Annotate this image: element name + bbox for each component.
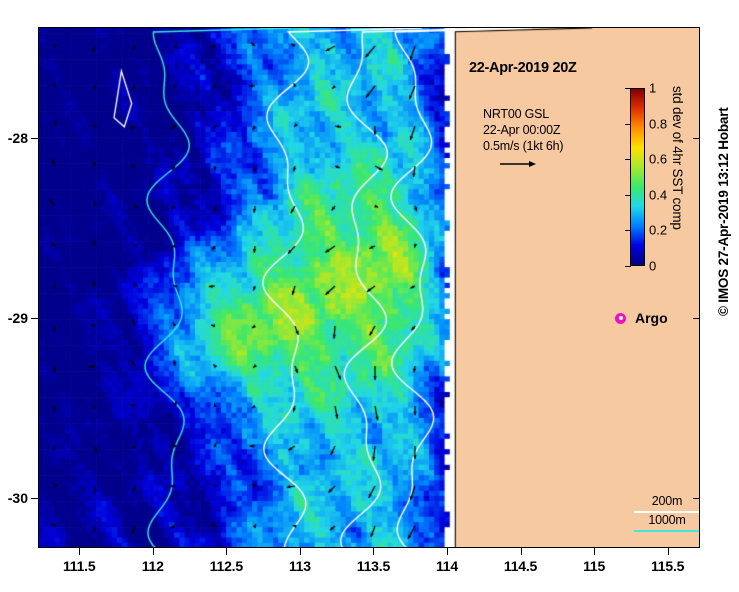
x-axis-tick-label: 114.5 [504,558,537,574]
map-plot-area[interactable]: 22-Apr-2019 20Z NRT00 GSL 22-Apr 00:00Z … [38,27,700,548]
argo-marker-icon [615,313,626,324]
colorbar-tick [625,159,631,160]
colorbar-tick-label: 0 [649,259,656,274]
timestamp-label: 22-Apr-2019 20Z [469,60,577,76]
current-source-label: NRT00 GSL [483,106,563,122]
x-axis-tick-label: 114 [436,558,458,574]
current-overlay-info: NRT00 GSL 22-Apr 00:00Z 0.5m/s (1kt 6h) [483,106,563,154]
depth-contour-legend: 200m 1000m [629,494,700,532]
y-axis-tick [31,498,38,499]
current-scale-label: 0.5m/s (1kt 6h) [483,138,563,154]
colorbar-tick-label: 0.6 [649,152,667,167]
x-axis-tick [594,548,595,555]
x-axis-tick [300,548,301,555]
x-axis-tick [373,548,374,555]
colorbar [630,88,645,266]
colorbar-tick [625,195,631,196]
y-axis-tick-label: -30 [0,490,28,506]
colorbar-tick [625,266,631,267]
colorbar-tick-label: 1 [649,81,656,96]
current-valid-time-label: 22-Apr 00:00Z [483,122,563,138]
y-axis-tick-label: -29 [0,310,28,326]
x-axis-tick-label: 113 [289,558,311,574]
y-axis-tick-right [693,498,700,499]
colorbar-tick [625,88,631,89]
x-axis-tick [668,548,669,555]
figure-root: 22-Apr-2019 20Z NRT00 GSL 22-Apr 00:00Z … [0,0,739,592]
argo-legend: Argo [615,310,668,326]
colorbar-title: std dev of 4hr SST comp [667,86,685,268]
x-axis-tick-label: 115 [583,558,605,574]
reference-velocity-arrow-icon [499,158,537,170]
x-axis-tick [447,548,448,555]
x-axis-tick-label: 112.5 [210,558,243,574]
depth-200-label: 200m [629,494,700,511]
x-axis-tick-label: 112 [142,558,164,574]
x-axis-tick [521,548,522,555]
y-axis-tick-right [693,318,700,319]
x-axis-tick-label: 111.5 [63,558,96,574]
depth-1000-line-swatch [634,530,700,532]
colorbar-tick [625,230,631,231]
colorbar-tick-label: 0.4 [649,187,667,202]
colorbar-tick [625,124,631,125]
copyright-label: © IMOS 27-Apr-2019 13:12 Hobart [716,107,731,316]
sst-variability-raster [39,28,700,548]
y-axis-tick [31,138,38,139]
depth-1000-label: 1000m [629,513,700,530]
x-axis-tick [226,548,227,555]
colorbar-tick-label: 0.8 [649,116,667,131]
y-axis-tick-right [693,138,700,139]
colorbar-tick-label: 0.2 [649,223,667,238]
y-axis-tick-label: -28 [0,130,28,146]
x-axis-tick [79,548,80,555]
x-axis-tick [153,548,154,555]
argo-legend-label: Argo [635,310,668,326]
y-axis-tick [31,318,38,319]
x-axis-tick-label: 113.5 [357,558,390,574]
x-axis-tick-label: 115.5 [651,558,684,574]
